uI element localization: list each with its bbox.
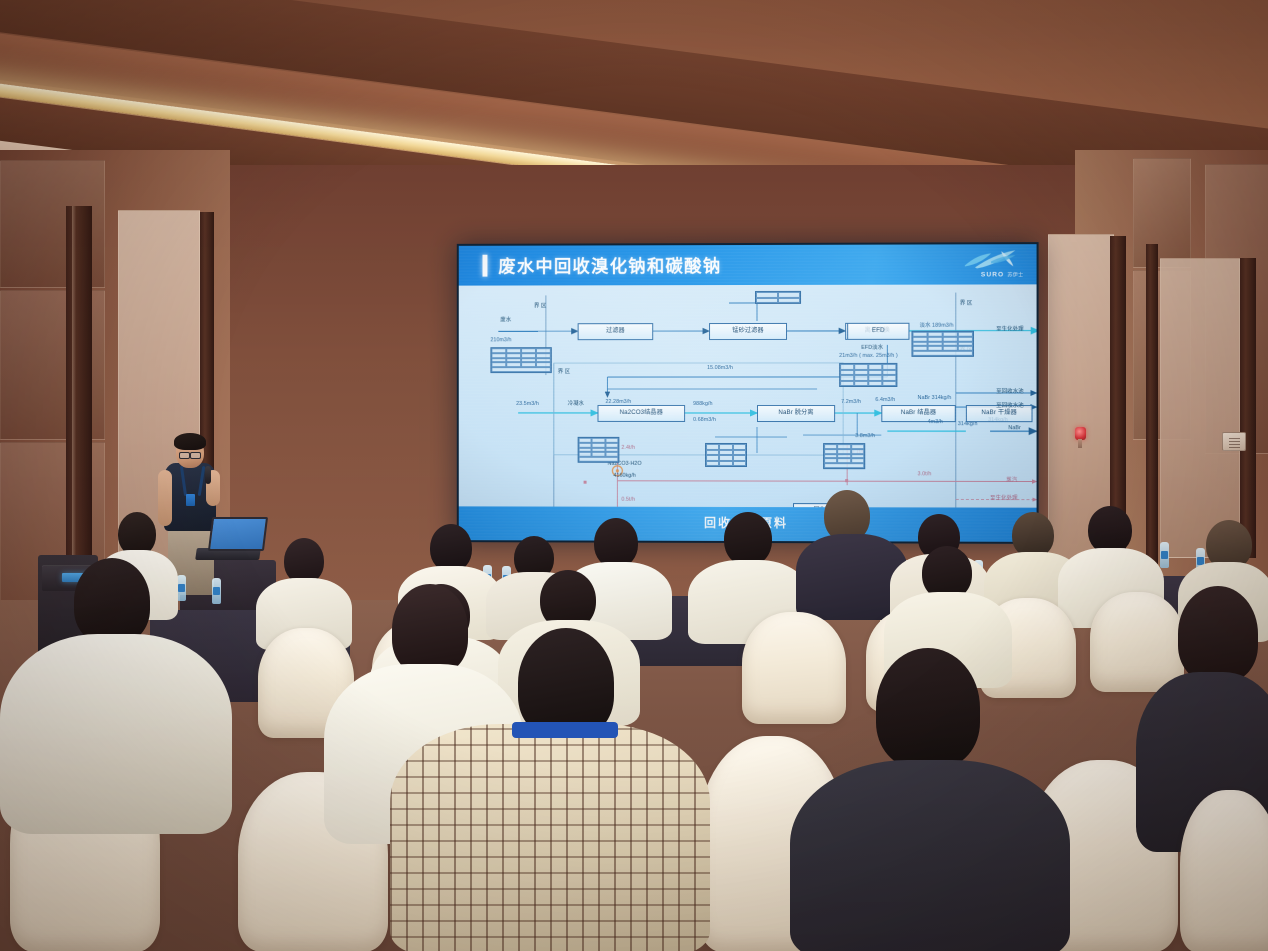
flow-label-4160: 4160kg/h xyxy=(613,473,635,479)
zone-label-3: 界 区 xyxy=(960,299,973,307)
wall-column-far-right xyxy=(1240,258,1256,558)
water-bottle xyxy=(177,575,186,601)
chair xyxy=(742,612,846,724)
flow-label-efdrate: 21m3/h ( max. 25m3/h ) xyxy=(839,353,898,359)
flow-node-mnsand: 锰砂过滤器 xyxy=(709,323,787,340)
chair xyxy=(1090,592,1184,692)
data-table-6 xyxy=(705,443,747,467)
data-table-4 xyxy=(911,331,973,357)
slide-title: 废水中回收溴化钠和碳酸钠 xyxy=(498,253,721,279)
presentation-slide: 废水中回收溴化钠和碳酸钠 SURO 苏伊士 xyxy=(459,244,1037,542)
water-bottle xyxy=(212,578,221,604)
slide-header: 废水中回收溴化钠和碳酸钠 SURO 苏伊士 xyxy=(459,244,1037,285)
audience-torso-front xyxy=(790,760,1070,951)
audience-head-front xyxy=(1178,586,1258,682)
flow-node-efd-box: EFD xyxy=(847,323,909,340)
presenter-hair xyxy=(174,433,206,450)
flow-label-38: 3.8m3/h xyxy=(855,433,875,439)
flow-label-nabr314: NaBr 314kg/h xyxy=(918,395,952,401)
audience-head-front xyxy=(876,648,980,768)
flow-label-efdfresh: EFD淡水 xyxy=(861,343,883,351)
flow-node-efd-label: EFD xyxy=(872,328,885,335)
audience-torso-front xyxy=(0,634,232,834)
wave-bird-logo-icon xyxy=(961,248,1024,271)
zone-label-1: 界 区 xyxy=(534,301,546,309)
flow-node-dryer-label: NaBr 干燥器 xyxy=(981,410,1017,417)
wall-column-right-outer xyxy=(1146,244,1158,564)
water-bottle xyxy=(1160,542,1169,568)
data-table-1 xyxy=(490,347,551,373)
flow-label-4m3h: 4m3/h xyxy=(928,419,943,425)
logo-brand-cn: 苏伊士 xyxy=(1007,271,1023,278)
flow-label-210: 210m3/h xyxy=(490,337,511,343)
dest-recover-2: 至回收水池 xyxy=(996,401,1023,409)
process-flow-diagram: 过滤器 锰砂过滤器 离子交换 EFD Na2CO3结晶器 NaBr 脱分离 Na… xyxy=(459,284,1037,541)
handheld-microphone xyxy=(205,466,211,484)
flow-label-freshwater: 淡水 189m3/h xyxy=(920,321,954,329)
data-table-2 xyxy=(755,291,801,304)
data-table-3 xyxy=(839,363,897,387)
title-accent-bar xyxy=(482,255,487,277)
flow-label-wastewater: 废水 xyxy=(500,315,511,323)
zone-label-2: 界 区 xyxy=(558,367,570,375)
flow-label-64: 6.4m3/h xyxy=(875,397,895,403)
chair-front xyxy=(1180,790,1268,951)
flow-label-05t: 0.5t/h xyxy=(621,497,635,503)
glasses-icon xyxy=(179,452,201,457)
flow-label-1508: 15.08m3/h xyxy=(707,365,733,371)
wall-switch-plate xyxy=(1222,432,1246,451)
flow-node-na2co3: Na2CO3结晶器 xyxy=(597,405,685,422)
flow-label-72: 7.2m3/h xyxy=(841,399,861,405)
company-logo: SURO 苏伊士 xyxy=(961,248,1024,278)
flow-label-235: 23.5m3/h xyxy=(516,401,539,407)
flow-label-068: 0.68m3/h xyxy=(693,417,716,423)
flow-label-2228: 22.28m3/h xyxy=(605,399,631,405)
fire-alarm-icon xyxy=(1075,427,1086,440)
conference-photo: 废水中回收溴化钠和碳酸钠 SURO 苏伊士 xyxy=(0,0,1268,951)
dest-recover-1: 至回收水池 xyxy=(996,387,1023,395)
flow-label-24t: 2.4t/h xyxy=(621,445,635,451)
flow-label-condensate1: 冷凝水 xyxy=(568,399,584,407)
dest-steam: 蒸汽 xyxy=(1006,475,1017,483)
dest-nabr: NaBr xyxy=(1008,425,1021,431)
audience-head-front xyxy=(392,584,468,674)
flow-node-nabrsep: NaBr 脱分离 xyxy=(757,405,835,422)
dest-bio-2: 至生化处理 xyxy=(990,493,1017,501)
audience-head xyxy=(1088,506,1132,554)
presenter-badge xyxy=(186,494,195,506)
logo-brand-text: SURO xyxy=(981,271,1004,278)
blue-collar xyxy=(512,722,618,738)
flow-node-filter: 过滤器 xyxy=(578,323,654,340)
flow-label-988: 988kg/h xyxy=(693,401,713,407)
presenter-arm-left xyxy=(158,470,172,526)
data-table-7 xyxy=(823,443,865,469)
wall-panel-far-right xyxy=(1160,258,1240,558)
flow-label-30t: 3.0t/h xyxy=(918,471,932,477)
audience-head xyxy=(430,524,472,572)
flow-node-nabrcryst: NaBr 结晶器 xyxy=(881,405,955,422)
presenter-laptop-screen[interactable] xyxy=(208,517,268,551)
audience-head-front xyxy=(74,558,150,644)
audience-head xyxy=(724,512,772,566)
audience-head xyxy=(594,518,638,568)
audience-torso-checkered xyxy=(390,724,710,951)
projection-screen[interactable]: 废水中回收溴化钠和碳酸钠 SURO 苏伊士 xyxy=(457,242,1039,544)
dest-bio-1: 至生化处理 xyxy=(996,325,1023,333)
data-table-5 xyxy=(578,437,620,463)
